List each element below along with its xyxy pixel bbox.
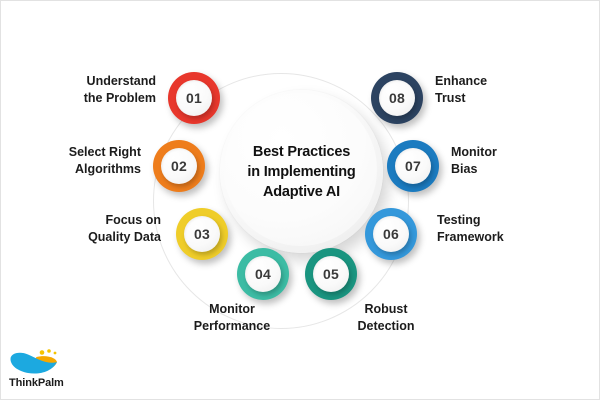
step-label-07: Monitor Bias <box>451 144 591 178</box>
step-label-04: Monitor Performance <box>171 301 293 335</box>
page-title: Best Practices in Implementing Adaptive … <box>234 142 369 202</box>
center-disc: Best Practices in Implementing Adaptive … <box>220 90 383 253</box>
infographic-canvas: Best Practices in Implementing Adaptive … <box>0 0 600 400</box>
brand-name: ThinkPalm <box>9 377 81 389</box>
step-label-07-line-1: Monitor <box>451 144 591 161</box>
step-label-01-line-2: the Problem <box>21 90 156 107</box>
step-number-04: 04 <box>245 256 281 292</box>
step-node-02[interactable]: 02 <box>153 140 205 192</box>
step-label-03-line-1: Focus on <box>26 212 161 229</box>
step-label-05: Robust Detection <box>331 301 441 335</box>
step-label-03-line-2: Quality Data <box>26 229 161 246</box>
step-number-01: 01 <box>176 80 212 116</box>
step-node-06[interactable]: 06 <box>365 208 417 260</box>
step-node-01[interactable]: 01 <box>168 72 220 124</box>
step-label-08-line-1: Enhance <box>435 73 585 90</box>
step-number-03: 03 <box>184 216 220 252</box>
center-title-line-1: Best Practices <box>234 142 369 162</box>
step-node-04[interactable]: 04 <box>237 248 289 300</box>
step-label-08-line-2: Trust <box>435 90 585 107</box>
step-number-02: 02 <box>161 148 197 184</box>
step-label-05-line-2: Detection <box>331 318 441 335</box>
thinkpalm-logo-icon <box>9 349 61 375</box>
step-label-01-line-1: Understand <box>21 73 156 90</box>
step-label-02: Select Right Algorithms <box>6 144 141 178</box>
brand-logo: ThinkPalm <box>9 349 81 389</box>
step-node-07[interactable]: 07 <box>387 140 439 192</box>
step-label-02-line-1: Select Right <box>6 144 141 161</box>
step-label-06-line-2: Framework <box>437 229 587 246</box>
step-node-03[interactable]: 03 <box>176 208 228 260</box>
step-node-05[interactable]: 05 <box>305 248 357 300</box>
step-number-08: 08 <box>379 80 415 116</box>
step-label-04-line-1: Monitor <box>171 301 293 318</box>
step-label-07-line-2: Bias <box>451 161 591 178</box>
step-label-04-line-2: Performance <box>171 318 293 335</box>
step-label-08: Enhance Trust <box>435 73 585 107</box>
step-label-05-line-1: Robust <box>331 301 441 318</box>
center-title-line-3: Adaptive AI <box>234 182 369 202</box>
center-title-line-2: in Implementing <box>234 162 369 182</box>
step-number-05: 05 <box>313 256 349 292</box>
step-number-06: 06 <box>373 216 409 252</box>
step-label-02-line-2: Algorithms <box>6 161 141 178</box>
step-label-06: Testing Framework <box>437 212 587 246</box>
step-label-01: Understand the Problem <box>21 73 156 107</box>
step-number-07: 07 <box>395 148 431 184</box>
step-label-03: Focus on Quality Data <box>26 212 161 246</box>
step-label-06-line-1: Testing <box>437 212 587 229</box>
step-node-08[interactable]: 08 <box>371 72 423 124</box>
